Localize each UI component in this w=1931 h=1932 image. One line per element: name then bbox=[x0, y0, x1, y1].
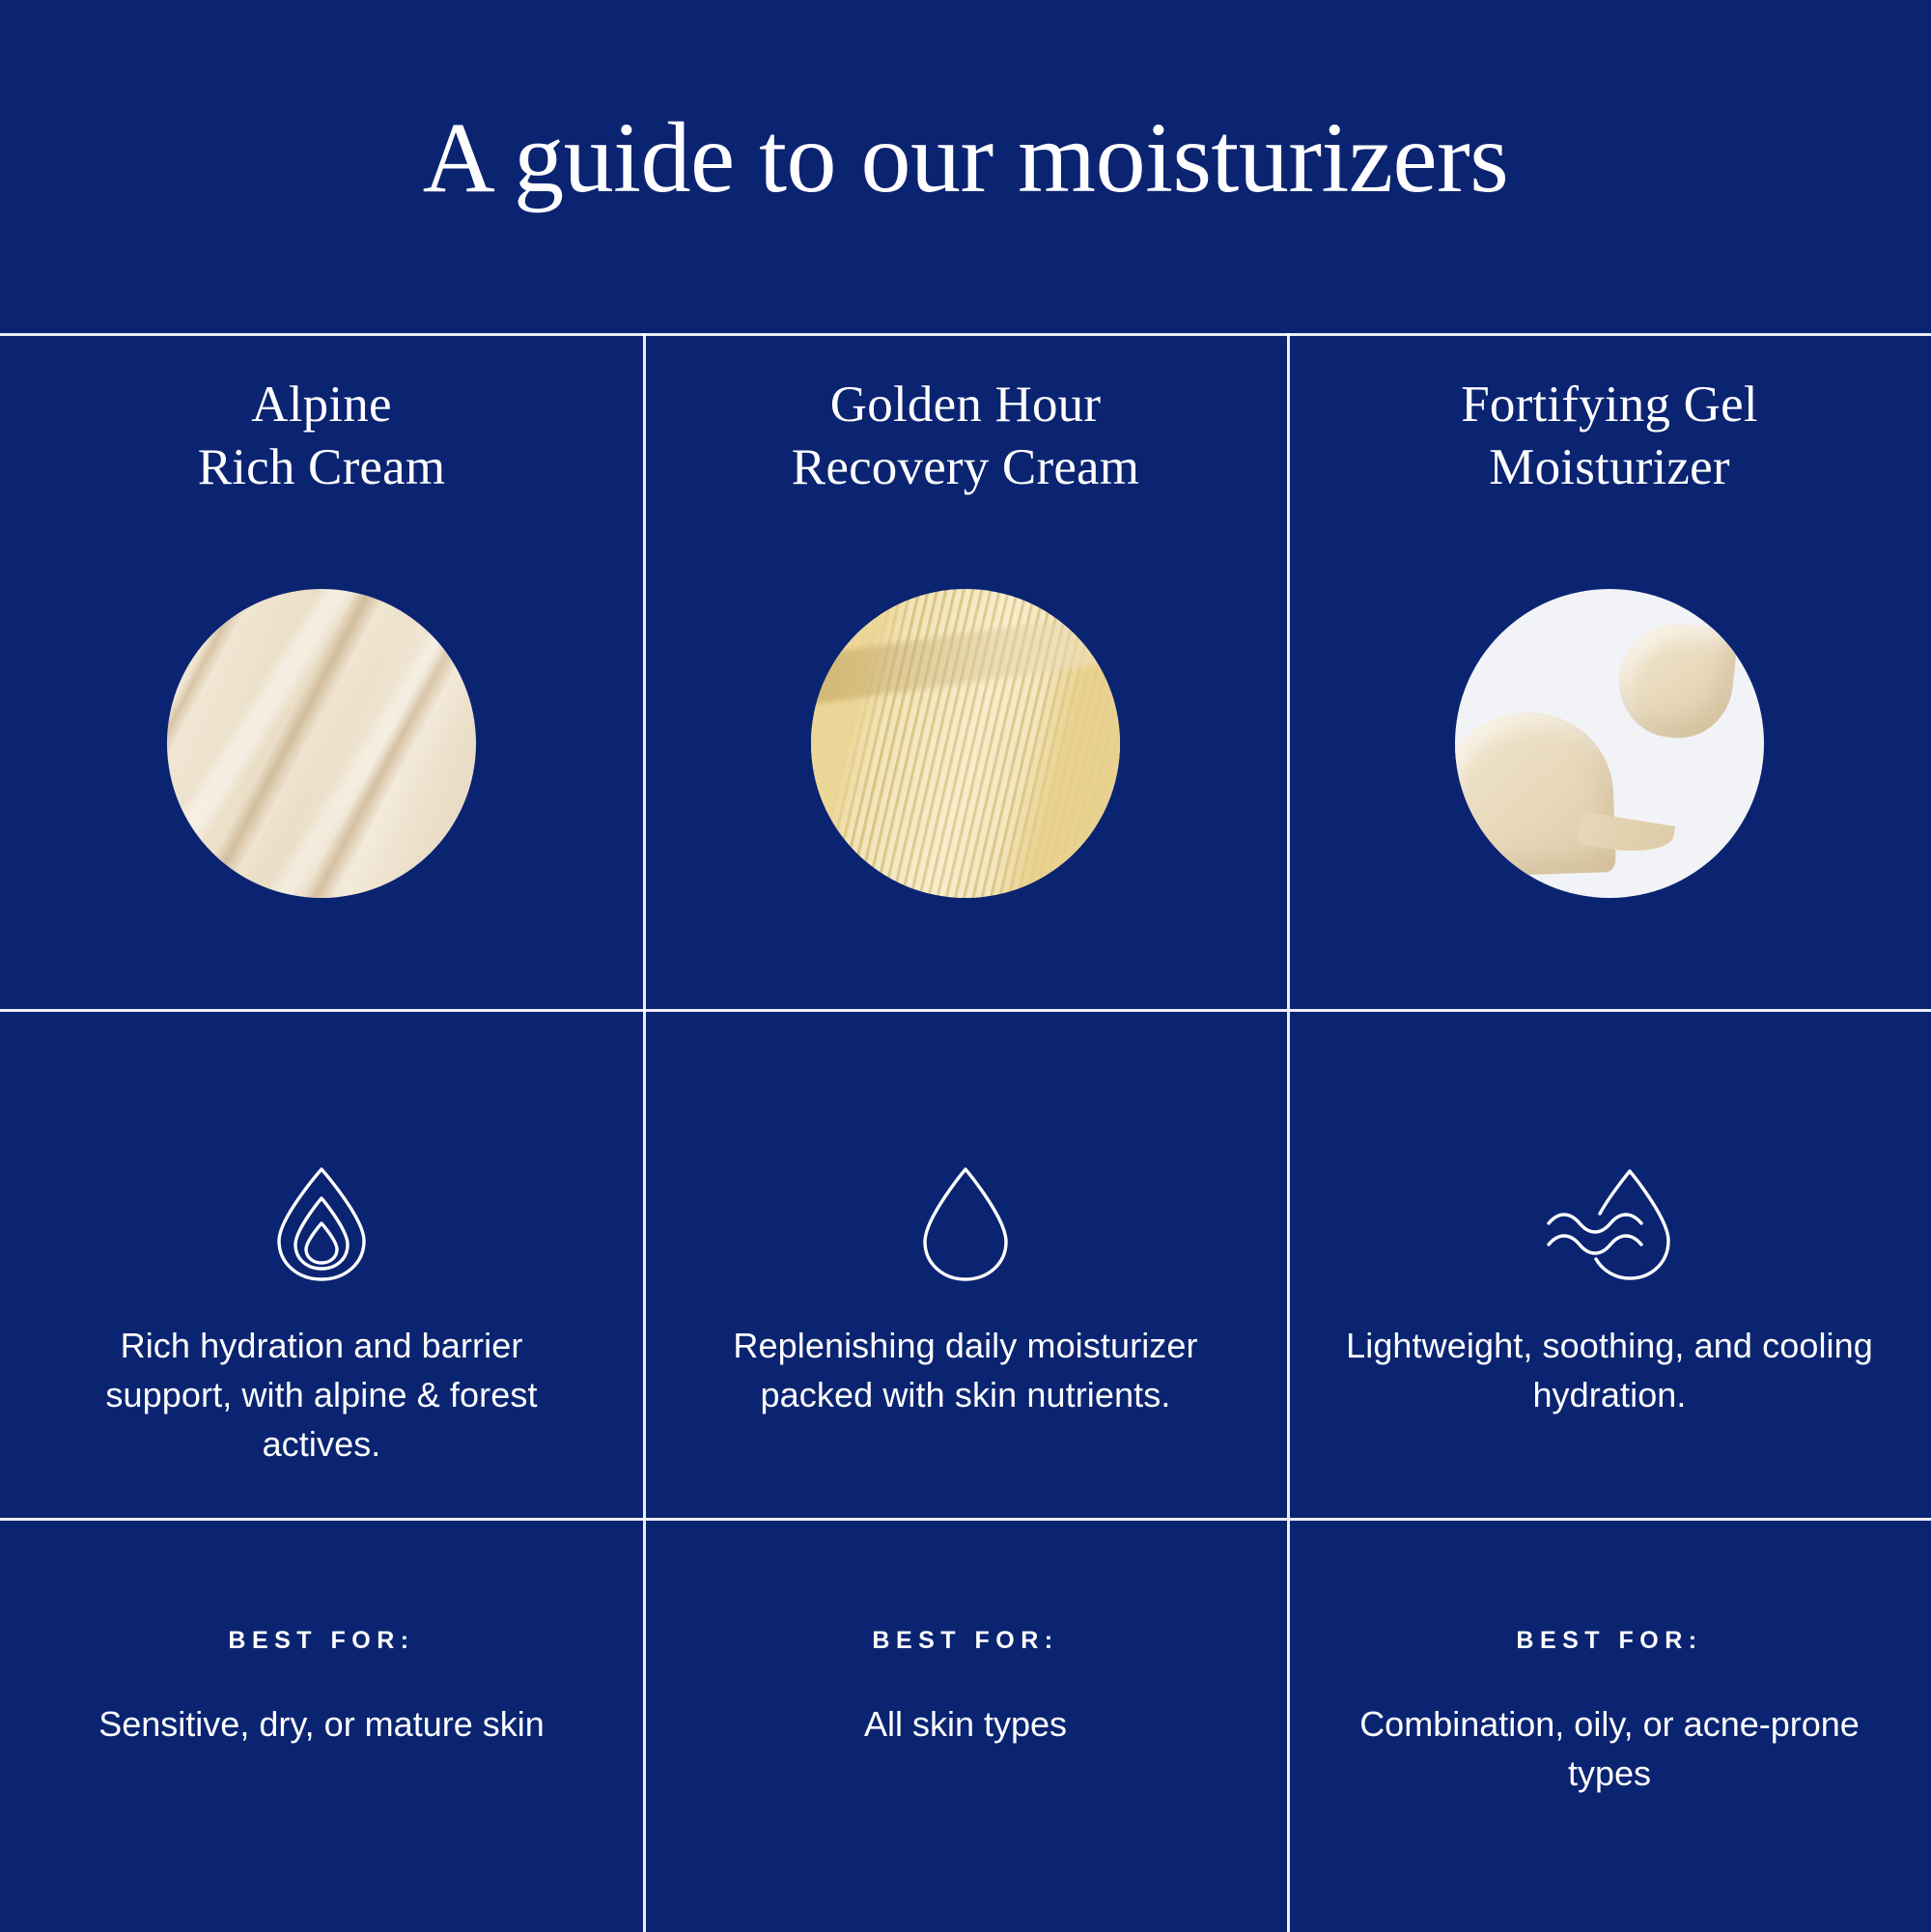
product-description: Replenishing daily moisturizer packed wi… bbox=[644, 1321, 1287, 1419]
best-for-label: BEST FOR: bbox=[0, 1627, 643, 1655]
alpine-rich-cream-texture-swatch bbox=[167, 589, 476, 898]
best-for-value: All skin types bbox=[644, 1699, 1287, 1749]
header: A guide to our moisturizers bbox=[0, 0, 1931, 333]
best-for-label: BEST FOR: bbox=[1288, 1627, 1931, 1655]
product-title-line1: Fortifying Gel bbox=[1461, 377, 1758, 433]
product-title-line2: Recovery Cream bbox=[792, 439, 1139, 495]
gel-blob-large bbox=[1455, 710, 1616, 878]
comparison-grid: Alpine Rich Cream Rich hydration and bar… bbox=[0, 333, 1931, 1932]
product-title-line1: Golden Hour bbox=[830, 377, 1101, 433]
best-for-label: BEST FOR: bbox=[644, 1627, 1287, 1655]
product-header-cell: Golden Hour Recovery Cream bbox=[644, 333, 1287, 1009]
fortifying-gel-moisturizer-texture-swatch bbox=[1455, 589, 1764, 898]
swatch-texture bbox=[1455, 589, 1764, 898]
product-title-line2: Rich Cream bbox=[198, 439, 446, 495]
page-title: A guide to our moisturizers bbox=[423, 108, 1509, 226]
gel-blob-small bbox=[1613, 618, 1739, 743]
product-bestfor-cell: BEST FOR: All skin types bbox=[644, 1521, 1287, 1932]
product-bestfor-cell: BEST FOR: Combination, oily, or acne-pro… bbox=[1288, 1521, 1931, 1932]
droplet-icon bbox=[893, 1162, 1038, 1287]
nested-droplet-icon bbox=[249, 1162, 394, 1287]
product-description: Rich hydration and barrier support, with… bbox=[0, 1321, 643, 1469]
swatch-texture bbox=[167, 589, 476, 898]
golden-hour-recovery-cream-texture-swatch bbox=[811, 589, 1120, 898]
product-header-cell: Fortifying Gel Moisturizer bbox=[1288, 333, 1931, 1009]
product-title: Fortifying Gel Moisturizer bbox=[1288, 374, 1931, 498]
product-column-golden-hour-recovery-cream[interactable]: Golden Hour Recovery Cream Replenishing … bbox=[644, 333, 1287, 1932]
product-title-line2: Moisturizer bbox=[1489, 439, 1729, 495]
product-title-line1: Alpine bbox=[251, 377, 391, 433]
best-for-value: Combination, oily, or acne-prone types bbox=[1288, 1699, 1931, 1798]
product-title: Golden Hour Recovery Cream bbox=[644, 374, 1287, 498]
moisturizer-guide-infographic: A guide to our moisturizers Alpine Rich … bbox=[0, 0, 1931, 1932]
product-column-alpine-rich-cream[interactable]: Alpine Rich Cream Rich hydration and bar… bbox=[0, 333, 643, 1932]
product-column-fortifying-gel-moisturizer[interactable]: Fortifying Gel Moisturizer bbox=[1288, 333, 1931, 1932]
droplet-with-waves-icon bbox=[1537, 1162, 1682, 1287]
swatch-texture bbox=[811, 589, 1120, 898]
product-benefit-cell: Lightweight, soothing, and cooling hydra… bbox=[1288, 1012, 1931, 1518]
product-benefit-cell: Replenishing daily moisturizer packed wi… bbox=[644, 1012, 1287, 1518]
product-header-cell: Alpine Rich Cream bbox=[0, 333, 643, 1009]
product-description: Lightweight, soothing, and cooling hydra… bbox=[1288, 1321, 1931, 1419]
product-benefit-cell: Rich hydration and barrier support, with… bbox=[0, 1012, 643, 1518]
best-for-value: Sensitive, dry, or mature skin bbox=[0, 1699, 643, 1749]
product-title: Alpine Rich Cream bbox=[0, 374, 643, 498]
product-bestfor-cell: BEST FOR: Sensitive, dry, or mature skin bbox=[0, 1521, 643, 1932]
